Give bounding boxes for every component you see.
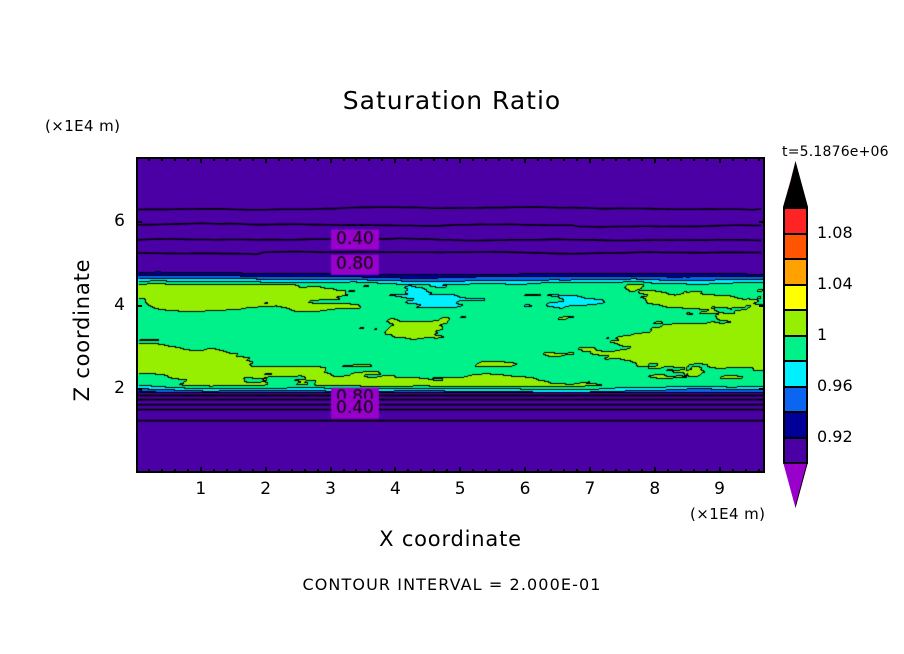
x-axis-minor-tick bbox=[498, 469, 500, 473]
x-axis-minor-tick bbox=[511, 157, 513, 161]
x-axis-minor-tick bbox=[226, 157, 228, 161]
x-axis-minor-tick bbox=[187, 157, 189, 161]
x-axis-minor-tick bbox=[576, 157, 578, 161]
x-axis-minor-tick bbox=[239, 469, 241, 473]
x-axis-minor-tick bbox=[641, 157, 643, 161]
colorbar-tick-label: 1.08 bbox=[817, 223, 853, 242]
colorbar-cap-top-outline bbox=[783, 161, 808, 207]
y-axis-tick bbox=[759, 388, 765, 390]
x-axis-minor-tick bbox=[381, 157, 383, 161]
x-axis-minor-tick bbox=[239, 157, 241, 161]
x-axis-tick bbox=[394, 467, 396, 473]
colorbar-band bbox=[783, 309, 808, 337]
x-axis-minor-tick bbox=[511, 469, 513, 473]
colorbar-band bbox=[783, 258, 808, 286]
y-axis-title: Z coordinate bbox=[70, 230, 94, 430]
x-axis-minor-tick bbox=[343, 157, 345, 161]
x-axis-minor-tick bbox=[213, 469, 215, 473]
x-axis-minor-tick bbox=[758, 469, 760, 473]
x-axis-minor-tick bbox=[304, 157, 306, 161]
x-axis-tick-label: 5 bbox=[445, 479, 475, 499]
x-axis-minor-tick bbox=[563, 157, 565, 161]
x-axis-tick-label: 2 bbox=[251, 479, 281, 499]
x-axis-minor-tick bbox=[693, 469, 695, 473]
x-axis-minor-tick bbox=[576, 469, 578, 473]
page-title: Saturation Ratio bbox=[0, 86, 904, 115]
x-axis-minor-tick bbox=[174, 469, 176, 473]
x-axis-minor-tick bbox=[758, 157, 760, 161]
x-axis-tick bbox=[265, 467, 267, 473]
x-axis-minor-tick bbox=[550, 469, 552, 473]
x-axis-tick bbox=[524, 157, 526, 163]
colorbar-band bbox=[783, 386, 808, 414]
x-axis-minor-tick bbox=[148, 157, 150, 161]
y-axis-tick bbox=[759, 221, 765, 223]
x-axis-minor-tick bbox=[628, 469, 630, 473]
contour-interval-caption: CONTOUR INTERVAL = 2.000E-01 bbox=[0, 575, 904, 594]
x-axis-tick bbox=[654, 157, 656, 163]
x-axis-tick bbox=[200, 467, 202, 473]
y-axis-unit-label: (×1E4 m) bbox=[45, 117, 120, 135]
x-axis-unit-label: (×1E4 m) bbox=[690, 505, 765, 523]
contour-plot bbox=[136, 157, 765, 473]
x-axis-tick-label: 7 bbox=[575, 479, 605, 499]
colorbar-tick-label: 1 bbox=[817, 325, 827, 344]
x-axis-minor-tick bbox=[226, 469, 228, 473]
x-axis-tick-label: 8 bbox=[640, 479, 670, 499]
x-axis-minor-tick bbox=[433, 157, 435, 161]
x-axis-minor-tick bbox=[213, 157, 215, 161]
x-axis-minor-tick bbox=[420, 157, 422, 161]
figure-root: Saturation Ratio (×1E4 m) t=5.1876e+06 Z… bbox=[0, 0, 904, 654]
x-axis-tick bbox=[719, 467, 721, 473]
x-axis-minor-tick bbox=[732, 157, 734, 161]
x-axis-minor-tick bbox=[472, 157, 474, 161]
x-axis-minor-tick bbox=[407, 157, 409, 161]
x-axis-minor-tick bbox=[498, 157, 500, 161]
x-axis-minor-tick bbox=[485, 469, 487, 473]
x-axis-tick-label: 4 bbox=[380, 479, 410, 499]
x-axis-minor-tick bbox=[563, 469, 565, 473]
colorbar-band bbox=[783, 411, 808, 439]
x-axis-minor-tick bbox=[317, 157, 319, 161]
x-axis-tick bbox=[589, 467, 591, 473]
colorbar-band bbox=[783, 207, 808, 235]
x-axis-minor-tick bbox=[291, 469, 293, 473]
y-axis-tick-label: 6 bbox=[99, 211, 125, 231]
x-axis-minor-tick bbox=[343, 469, 345, 473]
x-axis-minor-tick bbox=[667, 157, 669, 161]
x-axis-tick bbox=[394, 157, 396, 163]
x-axis-minor-tick bbox=[252, 157, 254, 161]
x-axis-minor-tick bbox=[446, 157, 448, 161]
x-axis-minor-tick bbox=[368, 157, 370, 161]
x-axis-tick-label: 1 bbox=[186, 479, 216, 499]
colorbar-tick-label: 0.92 bbox=[817, 427, 853, 446]
x-axis-minor-tick bbox=[745, 157, 747, 161]
x-axis-tick bbox=[589, 157, 591, 163]
x-axis-minor-tick bbox=[680, 469, 682, 473]
x-axis-minor-tick bbox=[161, 157, 163, 161]
x-axis-minor-tick bbox=[368, 469, 370, 473]
x-axis-minor-tick bbox=[420, 469, 422, 473]
x-axis-tick bbox=[654, 467, 656, 473]
x-axis-minor-tick bbox=[278, 157, 280, 161]
x-axis-minor-tick bbox=[628, 157, 630, 161]
x-axis-minor-tick bbox=[680, 157, 682, 161]
x-axis-minor-tick bbox=[706, 469, 708, 473]
x-axis-minor-tick bbox=[537, 157, 539, 161]
x-axis-tick-label: 3 bbox=[316, 479, 346, 499]
x-axis-minor-tick bbox=[355, 157, 357, 161]
x-axis-minor-tick bbox=[693, 157, 695, 161]
x-axis-minor-tick bbox=[174, 157, 176, 161]
x-axis-minor-tick bbox=[667, 469, 669, 473]
colorbar-cap-bottom bbox=[783, 462, 808, 508]
x-axis-minor-tick bbox=[615, 469, 617, 473]
x-axis-tick bbox=[719, 157, 721, 163]
x-axis-tick bbox=[330, 157, 332, 163]
x-axis-minor-tick bbox=[381, 469, 383, 473]
colorbar-band bbox=[783, 335, 808, 363]
x-axis-tick bbox=[265, 157, 267, 163]
x-axis-tick-label: 9 bbox=[705, 479, 735, 499]
colorbar-band bbox=[783, 233, 808, 261]
x-axis-minor-tick bbox=[641, 469, 643, 473]
y-axis-tick-label: 4 bbox=[99, 295, 125, 315]
x-axis-tick bbox=[459, 157, 461, 163]
x-axis-minor-tick bbox=[485, 157, 487, 161]
colorbar-tick-label: 1.04 bbox=[817, 274, 853, 293]
colorbar-band bbox=[783, 284, 808, 312]
x-axis-minor-tick bbox=[745, 469, 747, 473]
timestamp-label: t=5.1876e+06 bbox=[782, 144, 889, 160]
x-axis-minor-tick bbox=[550, 157, 552, 161]
x-axis-minor-tick bbox=[187, 469, 189, 473]
y-axis-tick bbox=[136, 221, 142, 223]
x-axis-minor-tick bbox=[304, 469, 306, 473]
y-axis-tick bbox=[759, 305, 765, 307]
x-axis-minor-tick bbox=[446, 469, 448, 473]
y-axis-tick bbox=[136, 305, 142, 307]
x-axis-minor-tick bbox=[602, 157, 604, 161]
contour-canvas bbox=[138, 159, 765, 473]
x-axis-minor-tick bbox=[161, 469, 163, 473]
x-axis-minor-tick bbox=[706, 157, 708, 161]
x-axis-minor-tick bbox=[433, 469, 435, 473]
x-axis-tick bbox=[330, 467, 332, 473]
x-axis-tick bbox=[524, 467, 526, 473]
x-axis-tick bbox=[200, 157, 202, 163]
colorbar-band bbox=[783, 360, 808, 388]
x-axis-minor-tick bbox=[252, 469, 254, 473]
x-axis-minor-tick bbox=[278, 469, 280, 473]
x-axis-tick-label: 6 bbox=[510, 479, 540, 499]
x-axis-title: X coordinate bbox=[136, 527, 765, 551]
x-axis-minor-tick bbox=[472, 469, 474, 473]
y-axis-tick bbox=[136, 388, 142, 390]
x-axis-minor-tick bbox=[355, 469, 357, 473]
x-axis-minor-tick bbox=[615, 157, 617, 161]
x-axis-minor-tick bbox=[291, 157, 293, 161]
x-axis-tick bbox=[459, 467, 461, 473]
x-axis-minor-tick bbox=[602, 469, 604, 473]
x-axis-minor-tick bbox=[148, 469, 150, 473]
x-axis-minor-tick bbox=[317, 469, 319, 473]
x-axis-minor-tick bbox=[407, 469, 409, 473]
x-axis-minor-tick bbox=[732, 469, 734, 473]
colorbar-band bbox=[783, 437, 808, 465]
y-axis-tick-label: 2 bbox=[99, 378, 125, 398]
colorbar-tick-label: 0.96 bbox=[817, 376, 853, 395]
x-axis-minor-tick bbox=[537, 469, 539, 473]
